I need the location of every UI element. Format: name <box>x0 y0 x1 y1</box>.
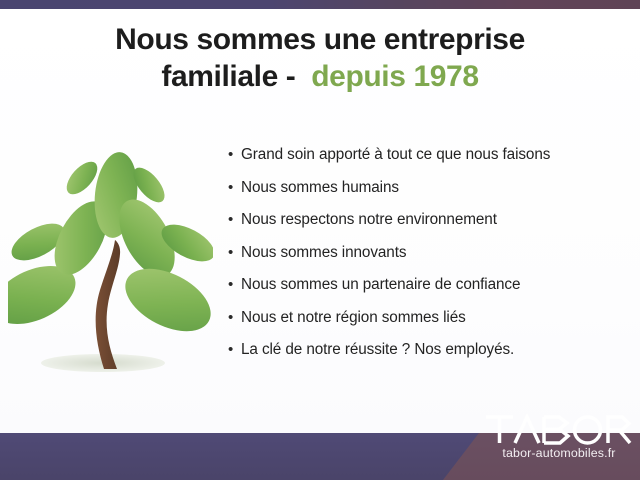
list-item: • Nous respectons notre environnement <box>228 209 633 231</box>
tabor-wordmark-icon <box>484 414 634 445</box>
bullet-marker-icon: • <box>228 242 241 263</box>
brand-tagline: tabor-automobiles.fr <box>484 446 634 460</box>
list-item-label: Nous sommes un partenaire de confiance <box>241 274 520 295</box>
bullet-marker-icon: • <box>228 307 241 328</box>
list-item-label: La clé de notre réussite ? Nos employés. <box>241 339 514 360</box>
top-accent-bar <box>0 0 640 9</box>
list-item-label: Nous sommes humains <box>241 177 399 198</box>
list-item: • Nous sommes humains <box>228 177 633 199</box>
tree-illustration <box>8 148 213 393</box>
list-item-label: Nous sommes innovants <box>241 242 406 263</box>
value-list: • Grand soin apporté à tout ce que nous … <box>228 144 633 372</box>
bullet-marker-icon: • <box>228 339 241 360</box>
page-title-line-1: Nous sommes une entreprise <box>0 22 640 59</box>
tree-trunk <box>96 240 120 369</box>
list-item: • La clé de notre réussite ? Nos employé… <box>228 339 633 361</box>
list-item: • Nous et notre région sommes liés <box>228 307 633 329</box>
list-item-label: Nous respectons notre environnement <box>241 209 497 230</box>
bullet-marker-icon: • <box>228 209 241 230</box>
list-item: • Nous sommes innovants <box>228 242 633 264</box>
list-item: • Grand soin apporté à tout ce que nous … <box>228 144 633 166</box>
bullet-marker-icon: • <box>228 144 241 165</box>
list-item-label: Nous et notre région sommes liés <box>241 307 466 328</box>
page-title-accent: depuis 1978 <box>311 60 478 93</box>
bullet-marker-icon: • <box>228 177 241 198</box>
brand-logo[interactable]: tabor-automobiles.fr <box>484 414 634 460</box>
bullet-marker-icon: • <box>228 274 241 295</box>
page-title-line-2: familiale - depuis 1978 <box>0 59 640 96</box>
tree-leaves <box>8 150 213 344</box>
page-title-line-2-plain: familiale - <box>161 60 311 93</box>
list-item: • Nous sommes un partenaire de confiance <box>228 274 633 296</box>
page-title: Nous sommes une entreprise familiale - d… <box>0 22 640 95</box>
list-item-label: Grand soin apporté à tout ce que nous fa… <box>241 144 550 165</box>
